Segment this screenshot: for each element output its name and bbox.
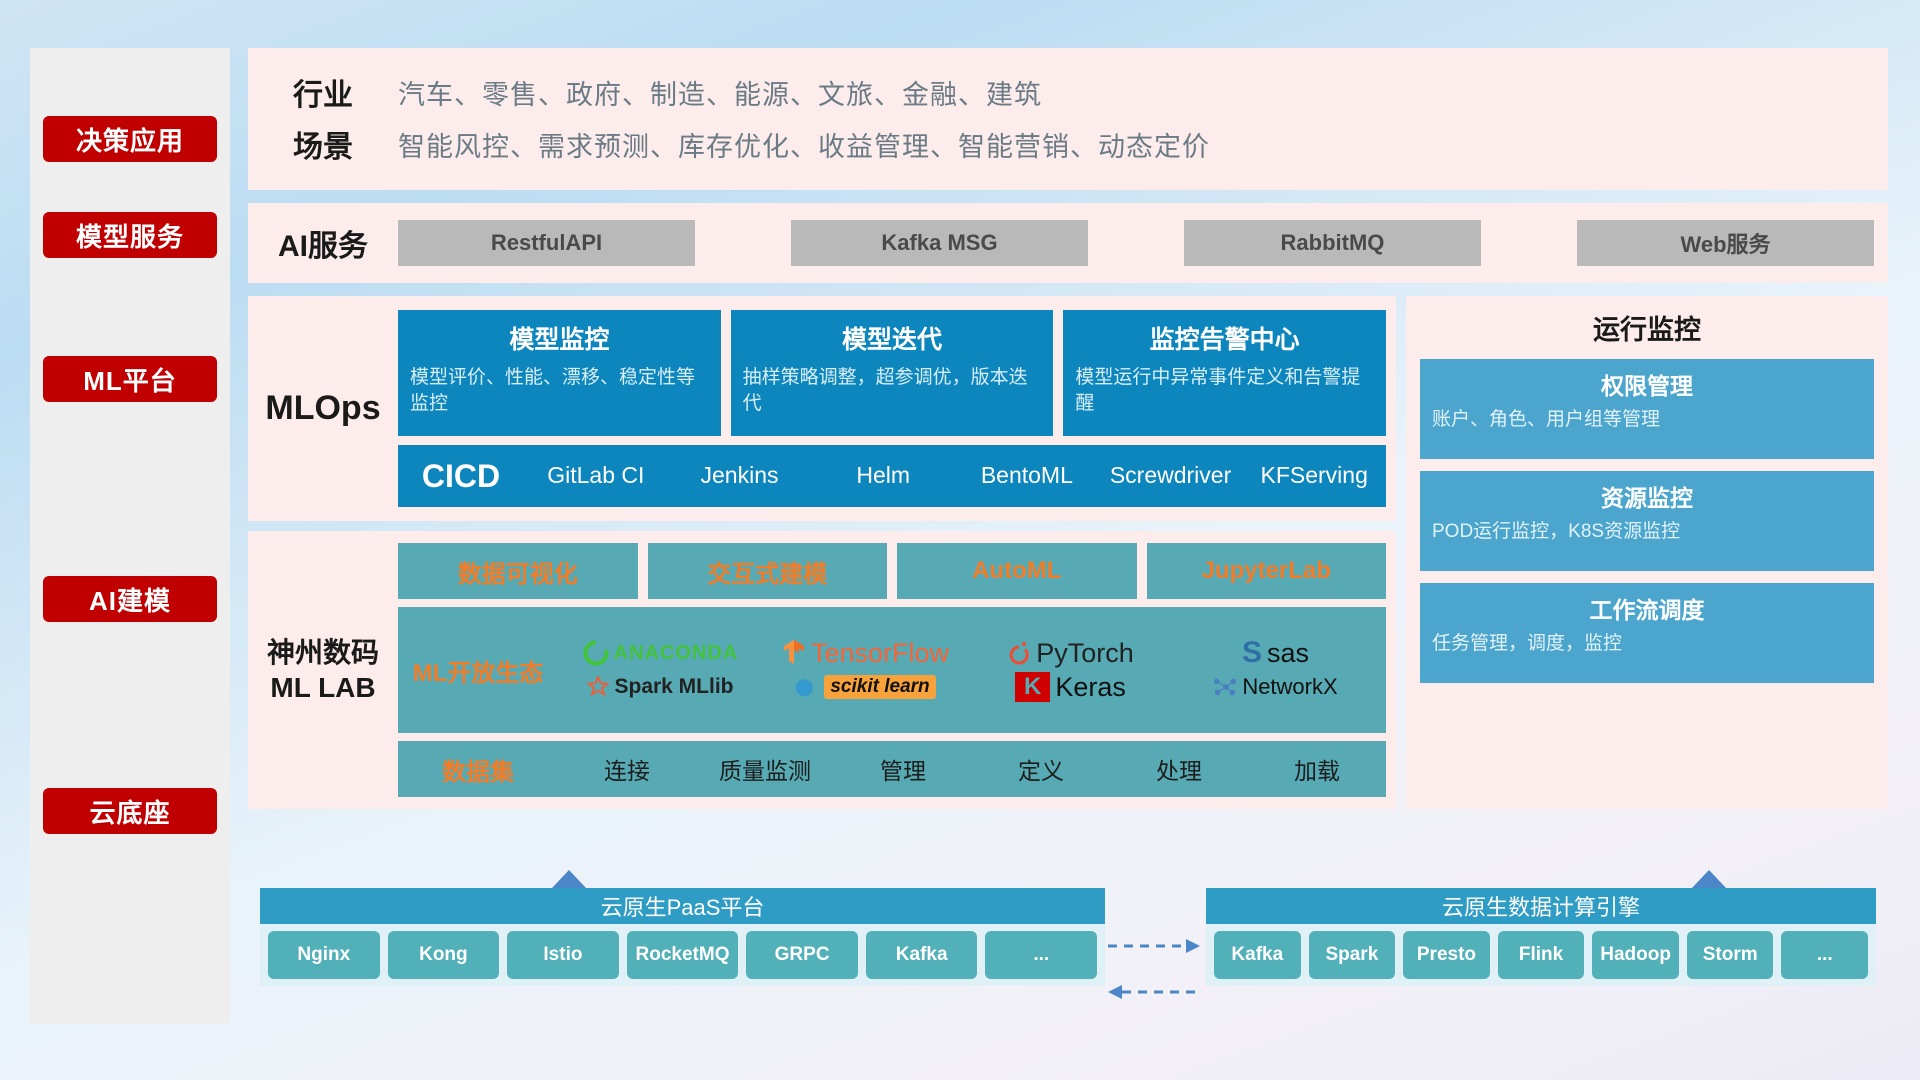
paas-chip-list: Nginx Kong Istio RocketMQ GRPC Kafka ... bbox=[260, 924, 1105, 986]
networkx-logo: NetworkX bbox=[1213, 674, 1337, 700]
spark-mllib-label: Spark MLlib bbox=[614, 675, 733, 699]
paas-platform-title: 云原生PaaS平台 bbox=[260, 888, 1105, 924]
modeling-tool[interactable]: 数据可视化 bbox=[398, 543, 638, 599]
monitor-card-title: 权限管理 bbox=[1432, 367, 1862, 401]
mlops-card[interactable]: 监控告警中心 模型运行中异常事件定义和告警提醒 bbox=[1063, 310, 1386, 436]
dataset-label: 数据集 bbox=[398, 752, 558, 787]
engine-chip[interactable]: Storm bbox=[1687, 931, 1774, 979]
engine-chip[interactable]: ... bbox=[1781, 931, 1868, 979]
anaconda-icon bbox=[583, 640, 609, 666]
engine-chip[interactable]: Spark bbox=[1309, 931, 1396, 979]
dataset-item[interactable]: 加载 bbox=[1248, 752, 1386, 786]
decision-key-scenario: 场景 bbox=[248, 122, 398, 166]
pytorch-logo: PyTorch bbox=[1007, 638, 1134, 669]
architecture-main: 行业 汽车、零售、政府、制造、能源、文旅、金融、建筑 场景 智能风控、需求预测、… bbox=[248, 48, 1888, 809]
rail-item-ml-platform[interactable]: ML平台 bbox=[43, 356, 217, 402]
keras-label: Keras bbox=[1055, 672, 1126, 703]
mlops-card-list: 模型监控 模型评价、性能、漂移、稳定性等监控 模型迭代 抽样策略调整，超参调优，… bbox=[398, 310, 1386, 436]
ai-service-item[interactable]: RestfulAPI bbox=[398, 220, 695, 266]
bidirectional-link bbox=[1106, 916, 1202, 1016]
ml-lab-key: 神州数码 ML LAB bbox=[248, 543, 398, 797]
rail-label-text: ML平台 bbox=[83, 361, 177, 398]
decision-key-industry: 行业 bbox=[248, 70, 398, 114]
dashed-arrows-icon bbox=[1106, 916, 1202, 1016]
rail-label-text: 云底座 bbox=[89, 793, 170, 830]
monitor-card-desc: 账户、角色、用户组等管理 bbox=[1432, 407, 1862, 433]
cicd-item[interactable]: BentoML bbox=[955, 463, 1099, 488]
dataset-item[interactable]: 定义 bbox=[972, 752, 1110, 786]
monitor-card[interactable]: 资源监控 POD运行监控，K8S资源监控 bbox=[1420, 471, 1874, 571]
cicd-bar: CICD GitLab CI Jenkins Helm BentoML Scre… bbox=[398, 445, 1386, 507]
cicd-item[interactable]: Helm bbox=[811, 463, 955, 488]
stack-layer-rail: 决策应用 模型服务 ML平台 AI建模 云底座 bbox=[30, 48, 230, 1023]
ml-ecosystem-label: ML开放生态 bbox=[398, 653, 558, 688]
ai-modeling-band: 神州数码 ML LAB 数据可视化 交互式建模 AutoML JupyterLa… bbox=[248, 531, 1396, 809]
ml-lab-key-line1: 神州数码 bbox=[267, 635, 379, 670]
keras-logo: K Keras bbox=[1015, 672, 1126, 703]
rail-item-model-service[interactable]: 模型服务 bbox=[43, 212, 217, 258]
monitor-card-title: 工作流调度 bbox=[1432, 591, 1862, 625]
cicd-item[interactable]: Screwdriver bbox=[1099, 463, 1243, 488]
dataset-item[interactable]: 质量监测 bbox=[696, 752, 834, 786]
dataset-item[interactable]: 连接 bbox=[558, 752, 696, 786]
engine-chip[interactable]: Presto bbox=[1403, 931, 1490, 979]
networkx-graph-icon bbox=[1213, 676, 1237, 698]
scikit-learn-logo: scikit learn bbox=[795, 675, 935, 699]
dataset-item[interactable]: 处理 bbox=[1110, 752, 1248, 786]
rail-label-text: 模型服务 bbox=[76, 217, 184, 254]
cicd-item[interactable]: KFServing bbox=[1242, 463, 1386, 488]
cloud-base-section: 云原生PaaS平台 Nginx Kong Istio RocketMQ GRPC… bbox=[248, 888, 1888, 1028]
paas-chip[interactable]: Kafka bbox=[866, 931, 978, 979]
scikit-learn-label: scikit learn bbox=[824, 675, 935, 699]
monitor-card-title: 资源监控 bbox=[1432, 479, 1862, 513]
tensorflow-logo: TensorFlow bbox=[782, 638, 949, 669]
paas-chip[interactable]: GRPC bbox=[746, 931, 858, 979]
engine-chip-list: Kafka Spark Presto Flink Hadoop Storm ..… bbox=[1206, 924, 1876, 986]
monitor-card[interactable]: 权限管理 账户、角色、用户组等管理 bbox=[1420, 359, 1874, 459]
pytorch-label: PyTorch bbox=[1036, 638, 1134, 669]
dataset-row: 数据集 连接 质量监测 管理 定义 处理 加载 bbox=[398, 741, 1386, 797]
cicd-item[interactable]: GitLab CI bbox=[524, 463, 668, 488]
ai-service-list: RestfulAPI Kafka MSG RabbitMQ Web服务 bbox=[398, 220, 1888, 266]
anaconda-logo: ANACONDA bbox=[583, 640, 739, 666]
mlops-card-title: 模型监控 bbox=[410, 320, 709, 356]
rail-label-text: AI建模 bbox=[89, 581, 171, 618]
sas-logo: S sas bbox=[1242, 636, 1309, 670]
scikit-blue-icon bbox=[795, 676, 819, 698]
ml-lab-key-line2: ML LAB bbox=[270, 670, 375, 705]
dataset-item[interactable]: 管理 bbox=[834, 752, 972, 786]
decision-value-scenario: 智能风控、需求预测、库存优化、收益管理、智能营销、动态定价 bbox=[398, 125, 1210, 164]
rail-item-cloud-base[interactable]: 云底座 bbox=[43, 788, 217, 834]
platform-section: MLOps 模型监控 模型评价、性能、漂移、稳定性等监控 模型迭代 抽样策略调整… bbox=[248, 296, 1888, 809]
mlops-card[interactable]: 模型监控 模型评价、性能、漂移、稳定性等监控 bbox=[398, 310, 721, 436]
paas-chip[interactable]: RocketMQ bbox=[627, 931, 739, 979]
pytorch-icon bbox=[1007, 640, 1031, 666]
engine-chip[interactable]: Kafka bbox=[1214, 931, 1301, 979]
runtime-monitoring-title: 运行监控 bbox=[1420, 308, 1874, 347]
data-engine-title: 云原生数据计算引擎 bbox=[1206, 888, 1876, 924]
rail-item-decision[interactable]: 决策应用 bbox=[43, 116, 217, 162]
engine-chip[interactable]: Hadoop bbox=[1592, 931, 1679, 979]
ai-service-item[interactable]: RabbitMQ bbox=[1184, 220, 1481, 266]
mlops-band: MLOps 模型监控 模型评价、性能、漂移、稳定性等监控 模型迭代 抽样策略调整… bbox=[248, 296, 1396, 521]
decision-value-industry: 汽车、零售、政府、制造、能源、文旅、金融、建筑 bbox=[398, 73, 1042, 112]
sas-label: sas bbox=[1267, 638, 1309, 669]
cicd-item[interactable]: Jenkins bbox=[668, 463, 812, 488]
rail-item-ai-modeling[interactable]: AI建模 bbox=[43, 576, 217, 622]
ai-service-item[interactable]: Kafka MSG bbox=[791, 220, 1088, 266]
paas-platform-column: 云原生PaaS平台 Nginx Kong Istio RocketMQ GRPC… bbox=[260, 888, 1105, 986]
decision-row-scenario: 场景 智能风控、需求预测、库存优化、收益管理、智能营销、动态定价 bbox=[248, 118, 1888, 170]
tensorflow-label: TensorFlow bbox=[811, 638, 949, 669]
modeling-tool[interactable]: JupyterLab bbox=[1147, 543, 1387, 599]
decision-application-band: 行业 汽车、零售、政府、制造、能源、文旅、金融、建筑 场景 智能风控、需求预测、… bbox=[248, 48, 1888, 190]
mlops-card[interactable]: 模型迭代 抽样策略调整，超参调优，版本迭代 bbox=[731, 310, 1054, 436]
ml-ecosystem-logos: ANACONDA TensorFlow bbox=[558, 636, 1386, 704]
ai-service-key: AI服务 bbox=[248, 221, 398, 265]
data-engine-column: 云原生数据计算引擎 Kafka Spark Presto Flink Hadoo… bbox=[1206, 888, 1876, 986]
modeling-tool[interactable]: AutoML bbox=[897, 543, 1137, 599]
rail-label-text: 决策应用 bbox=[76, 121, 184, 158]
ai-service-item[interactable]: Web服务 bbox=[1577, 220, 1874, 266]
modeling-tool-list: 数据可视化 交互式建模 AutoML JupyterLab bbox=[398, 543, 1386, 599]
paas-chip[interactable]: ... bbox=[985, 931, 1097, 979]
runtime-monitoring-band: 运行监控 权限管理 账户、角色、用户组等管理 资源监控 POD运行监控，K8S资… bbox=[1406, 296, 1888, 809]
paas-chip[interactable]: Istio bbox=[507, 931, 619, 979]
spark-star-icon bbox=[587, 676, 609, 698]
ml-ecosystem-row: ML开放生态 ANACONDA bbox=[398, 607, 1386, 733]
mlops-key: MLOps bbox=[248, 310, 398, 507]
spark-mllib-logo: Spark MLlib bbox=[587, 675, 733, 699]
monitor-card-desc: POD运行监控，K8S资源监控 bbox=[1432, 519, 1862, 545]
anaconda-label: ANACONDA bbox=[614, 642, 739, 665]
mlops-card-desc: 抽样策略调整，超参调优，版本迭代 bbox=[743, 365, 1042, 416]
networkx-label: NetworkX bbox=[1242, 674, 1337, 700]
engine-chip[interactable]: Flink bbox=[1498, 931, 1585, 979]
keras-k-icon: K bbox=[1015, 672, 1050, 702]
monitor-card-desc: 任务管理，调度，监控 bbox=[1432, 631, 1862, 657]
mlops-card-title: 模型迭代 bbox=[743, 320, 1042, 356]
paas-chip[interactable]: Kong bbox=[388, 931, 500, 979]
modeling-tool[interactable]: 交互式建模 bbox=[648, 543, 888, 599]
paas-chip[interactable]: Nginx bbox=[268, 931, 380, 979]
mlops-card-desc: 模型运行中异常事件定义和告警提醒 bbox=[1075, 365, 1374, 416]
mlops-card-desc: 模型评价、性能、漂移、稳定性等监控 bbox=[410, 365, 709, 416]
monitor-card[interactable]: 工作流调度 任务管理，调度，监控 bbox=[1420, 583, 1874, 683]
decision-row-industry: 行业 汽车、零售、政府、制造、能源、文旅、金融、建筑 bbox=[248, 66, 1888, 118]
cicd-item-list: GitLab CI Jenkins Helm BentoML Screwdriv… bbox=[524, 463, 1386, 488]
mlops-card-title: 监控告警中心 bbox=[1075, 320, 1374, 356]
cicd-title: CICD bbox=[398, 458, 524, 495]
tensorflow-icon bbox=[782, 639, 806, 667]
ai-service-band: AI服务 RestfulAPI Kafka MSG RabbitMQ Web服务 bbox=[248, 203, 1888, 283]
